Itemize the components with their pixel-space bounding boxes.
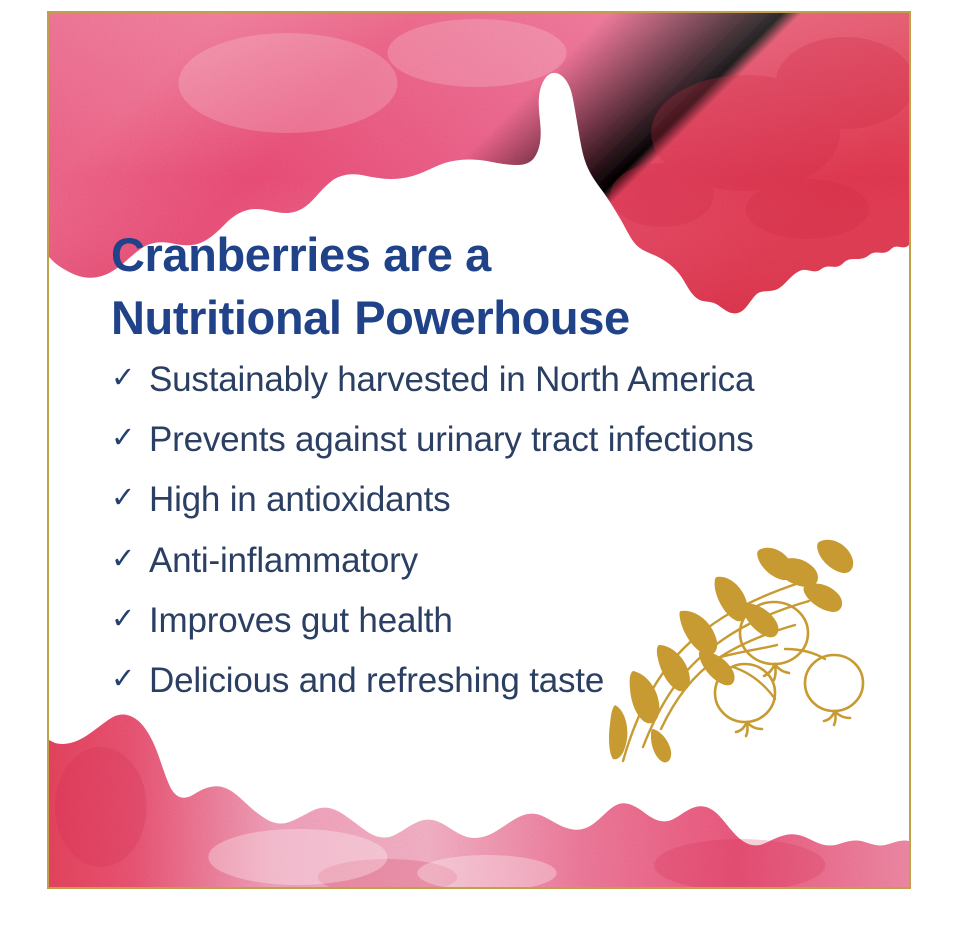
benefit-label: High in antioxidants [149,470,619,530]
benefit-label: Delicious and refreshing taste [149,651,619,711]
page-title: Cranberries are a Nutritional Powerhouse [111,224,811,349]
benefit-label: Anti-inflammatory [149,531,619,591]
check-icon: ✓ [111,470,149,527]
check-icon: ✓ [111,531,149,588]
check-icon: ✓ [111,591,149,648]
list-item: ✓ Prevents against urinary tract infecti… [111,410,901,470]
check-icon: ✓ [111,410,149,467]
benefit-label: Improves gut health [149,591,619,651]
check-icon: ✓ [111,651,149,708]
benefit-label: Prevents against urinary tract infection… [149,410,901,470]
list-item: ✓ High in antioxidants [111,470,901,530]
list-item: ✓ Sustainably harvested in North America [111,350,901,410]
poster-canvas: Cranberries are a Nutritional Powerhouse… [0,0,960,944]
content-area: Cranberries are a Nutritional Powerhouse… [49,13,909,887]
check-icon: ✓ [111,350,149,407]
benefit-label: Sustainably harvested in North America [149,350,901,410]
poster-card: Cranberries are a Nutritional Powerhouse… [47,11,911,889]
cranberry-branch-illustration [609,533,889,768]
